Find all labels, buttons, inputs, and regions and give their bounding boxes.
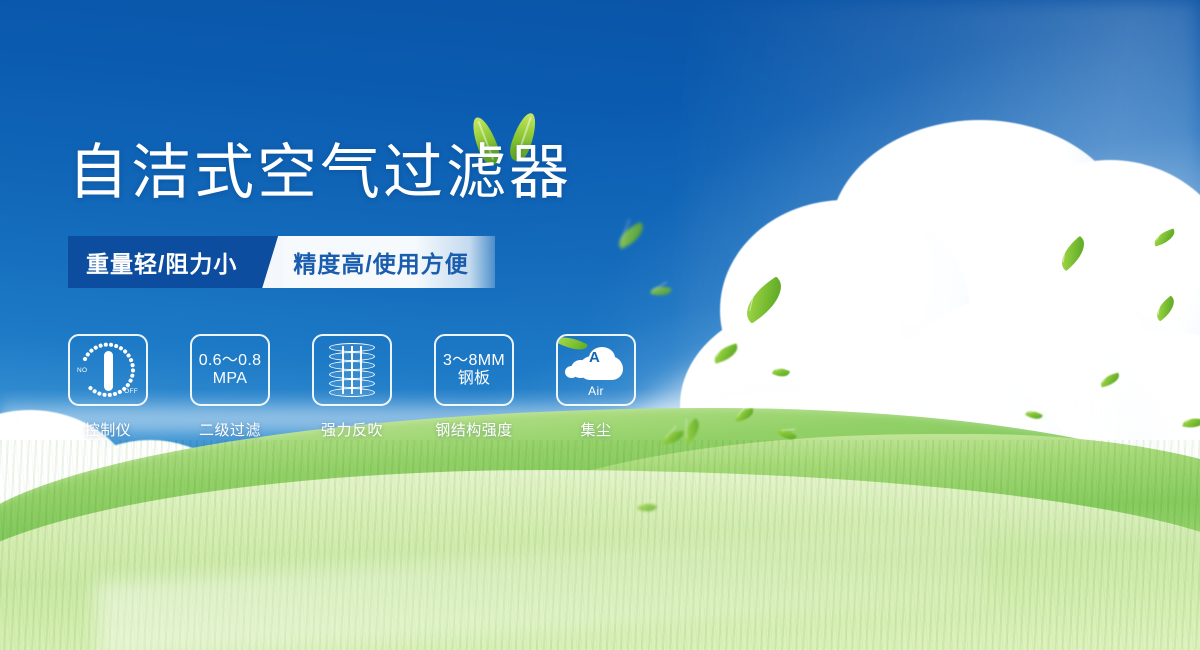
- banner-content: 自洁式空气过滤器 重量轻/阻力小 精度高/使用方便: [0, 0, 1200, 650]
- feature-label: 钢结构强度: [435, 419, 513, 440]
- subtitle-separator-slash: [257, 236, 283, 288]
- gauge-off-label: OFF: [124, 388, 138, 395]
- air-label: Air: [565, 384, 627, 398]
- pressure-text-icon: 0.6～0.8 MPA: [199, 352, 262, 388]
- gauge-needle: [104, 351, 113, 391]
- gauge-icon: NO OFF: [77, 342, 139, 398]
- air-cloud-icon: A Air: [565, 344, 627, 396]
- promo-banner: 自洁式空气过滤器 重量轻/阻力小 精度高/使用方便: [0, 0, 1200, 650]
- subtitle-bar: 重量轻/阻力小 精度高/使用方便: [68, 236, 495, 288]
- air-a-glyph: A: [589, 350, 600, 365]
- gauge-on-label: NO: [77, 367, 87, 374]
- feature-icon-box: [312, 334, 392, 406]
- air-leaf-accent: [556, 334, 588, 355]
- feature-item-backblow[interactable]: 强力反吹: [312, 334, 392, 440]
- feature-item-steel-strength[interactable]: 3～8MM 钢板 钢结构强度: [434, 334, 514, 440]
- feature-icon-box: NO OFF: [68, 334, 148, 406]
- banner-title: 自洁式空气过滤器: [68, 140, 572, 207]
- steel-plate-text: 钢板: [443, 370, 505, 388]
- feature-label: 强力反吹: [321, 419, 383, 440]
- feature-item-secondary-filtration[interactable]: 0.6～0.8 MPA 二级过滤: [190, 334, 270, 440]
- feature-icon-box: 0.6～0.8 MPA: [190, 334, 270, 406]
- feature-icon-box: A Air: [556, 334, 636, 406]
- feature-item-controller[interactable]: NO OFF 控制仪: [68, 334, 148, 440]
- filter-coil-icon: [329, 343, 375, 397]
- feature-list: NO OFF 控制仪 0.6～0.8 MPA 二级过滤: [68, 334, 636, 440]
- subtitle-left-segment: 重量轻/阻力小: [68, 236, 257, 288]
- pressure-range-text: 0.6～0.8: [199, 352, 262, 369]
- feature-label: 二级过滤: [199, 419, 261, 440]
- feature-label: 集尘: [580, 419, 611, 440]
- feature-label: 控制仪: [85, 419, 132, 440]
- feature-item-dust-collection[interactable]: A Air 集尘: [556, 334, 636, 440]
- feature-icon-box: 3～8MM 钢板: [434, 334, 514, 406]
- steel-plate-text-icon: 3～8MM 钢板: [443, 352, 505, 388]
- pressure-unit-text: MPA: [199, 370, 262, 388]
- subtitle-right-segment: 精度高/使用方便: [283, 236, 494, 288]
- steel-thickness-text: 3～8MM: [443, 352, 505, 369]
